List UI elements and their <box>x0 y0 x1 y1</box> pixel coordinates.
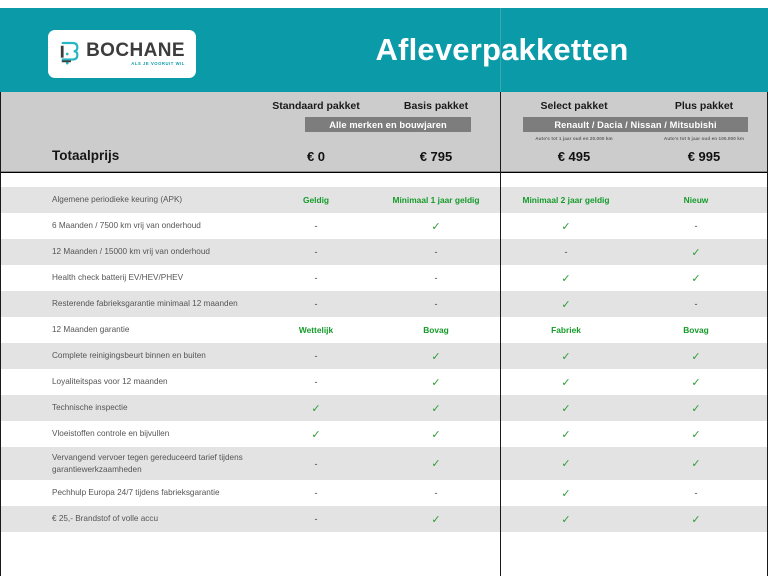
dash-icon: - <box>315 514 318 524</box>
price-basis: € 795 <box>372 149 500 164</box>
dash-icon: - <box>315 459 318 469</box>
check-icon: ✓ <box>311 429 320 441</box>
check-icon: ✓ <box>431 514 440 526</box>
table-row: 12 Maanden / 15000 km vrij van onderhoud… <box>0 239 768 265</box>
table-row: € 25,- Brandstof of volle accu-✓✓✓ <box>0 506 768 532</box>
feature-value-b: - <box>372 247 500 257</box>
dash-icon: - <box>315 221 318 231</box>
check-icon: ✓ <box>691 247 700 259</box>
dash-icon: - <box>695 488 698 498</box>
feature-value-d: ✓ <box>632 376 760 389</box>
feature-value-c: ✓ <box>500 376 632 389</box>
price-standaard: € 0 <box>260 149 372 164</box>
feature-value-a: - <box>260 221 372 231</box>
feature-label: Resterende fabrieksgarantie minimaal 12 … <box>0 298 260 310</box>
package-group-divider <box>500 92 501 576</box>
table-row: Technische inspectie✓✓✓✓ <box>0 395 768 421</box>
feature-value-b: ✓ <box>372 350 500 363</box>
feature-value-c: - <box>500 247 632 257</box>
check-icon: ✓ <box>431 429 440 441</box>
feature-value-c: ✓ <box>500 487 632 500</box>
feature-label: Algemene periodieke keuring (APK) <box>0 194 260 206</box>
bochane-logo[interactable]: BOCHANE ALS JE VOORUIT WIL <box>48 30 196 78</box>
check-icon: ✓ <box>561 221 570 233</box>
dash-icon: - <box>695 299 698 309</box>
feature-value-a: - <box>260 459 372 469</box>
package-note-select: Auto's tot 1 jaar oud en 20.000 km <box>508 136 640 141</box>
table-left-edge <box>0 92 1 576</box>
check-icon: ✓ <box>561 403 570 415</box>
check-icon: ✓ <box>561 429 570 441</box>
feature-value-a: Geldig <box>260 195 372 205</box>
dash-icon: - <box>435 273 438 283</box>
feature-label: Pechhulp Europa 24/7 tijdens fabrieksgar… <box>0 487 260 499</box>
check-icon: ✓ <box>311 403 320 415</box>
feature-value-d: ✓ <box>632 513 760 526</box>
check-icon: ✓ <box>431 458 440 470</box>
feature-value-b: Minimaal 1 jaar geldig <box>372 195 500 205</box>
table-row: Resterende fabrieksgarantie minimaal 12 … <box>0 291 768 317</box>
feature-value-b: ✓ <box>372 513 500 526</box>
dash-icon: - <box>315 299 318 309</box>
package-group-divider-header <box>500 8 501 92</box>
feature-value-d: - <box>632 488 760 498</box>
table-row: Complete reinigingsbeurt binnen en buite… <box>0 343 768 369</box>
table-row: Pechhulp Europa 24/7 tijdens fabrieksgar… <box>0 480 768 506</box>
feature-value-d: ✓ <box>632 402 760 415</box>
table-row: Algemene periodieke keuring (APK)GeldigM… <box>0 187 768 213</box>
feature-value-c: ✓ <box>500 402 632 415</box>
feature-label: 6 Maanden / 7500 km vrij van onderhoud <box>0 220 260 232</box>
dash-icon: - <box>565 247 568 257</box>
package-name-select: Select pakket <box>508 100 640 112</box>
table-row: Health check batterij EV/HEV/PHEV--✓✓ <box>0 265 768 291</box>
package-name-basis: Basis pakket <box>372 100 500 112</box>
feature-label: Vloeistoffen controle en bijvullen <box>0 428 260 440</box>
total-price-label: Totaalprijs <box>52 148 119 163</box>
feature-value-b: ✓ <box>372 428 500 441</box>
feature-label: 12 Maanden / 15000 km vrij van onderhoud <box>0 246 260 258</box>
feature-value-c: ✓ <box>500 272 632 285</box>
brand-bar-left: Alle merken en bouwjaren <box>305 117 471 132</box>
table-bottom-spacer <box>0 532 768 572</box>
table-top-spacer <box>0 173 768 187</box>
feature-value-a: - <box>260 351 372 361</box>
feature-value-d: Bovag <box>632 325 760 335</box>
dash-icon: - <box>315 273 318 283</box>
check-icon: ✓ <box>561 299 570 311</box>
feature-value-c: ✓ <box>500 428 632 441</box>
feature-value-b: - <box>372 273 500 283</box>
check-icon: ✓ <box>691 514 700 526</box>
table-row: Loyaliteitspas voor 12 maanden-✓✓✓ <box>0 369 768 395</box>
dash-icon: - <box>315 377 318 387</box>
dash-icon: - <box>435 488 438 498</box>
feature-label: 12 Maanden garantie <box>0 324 260 336</box>
check-icon: ✓ <box>431 351 440 363</box>
price-plus: € 995 <box>640 149 768 164</box>
brand-bar-right: Renault / Dacia / Nissan / Mitsubishi <box>523 117 748 132</box>
feature-value-a: ✓ <box>260 402 372 415</box>
feature-value-b: ✓ <box>372 457 500 470</box>
feature-value-b: Bovag <box>372 325 500 335</box>
table-row: Vervangend vervoer tegen gereduceerd tar… <box>0 447 768 480</box>
check-icon: ✓ <box>561 458 570 470</box>
feature-value-a: - <box>260 514 372 524</box>
feature-label: Health check batterij EV/HEV/PHEV <box>0 272 260 284</box>
dash-icon: - <box>315 351 318 361</box>
check-icon: ✓ <box>431 221 440 233</box>
package-name-standaard: Standaard pakket <box>260 100 372 112</box>
feature-label: Vervangend vervoer tegen gereduceerd tar… <box>0 452 260 476</box>
table-row: 12 Maanden garantieWettelijkBovagFabriek… <box>0 317 768 343</box>
check-icon: ✓ <box>561 351 570 363</box>
check-icon: ✓ <box>561 514 570 526</box>
dash-icon: - <box>435 247 438 257</box>
price-select: € 495 <box>508 149 640 164</box>
feature-value-b: - <box>372 488 500 498</box>
feature-value-d: - <box>632 221 760 231</box>
feature-value-c: ✓ <box>500 513 632 526</box>
feature-value-c: Fabriek <box>500 325 632 335</box>
feature-value-d: ✓ <box>632 272 760 285</box>
check-icon: ✓ <box>691 377 700 389</box>
feature-value-d: ✓ <box>632 457 760 470</box>
feature-label: Loyaliteitspas voor 12 maanden <box>0 376 260 388</box>
dash-icon: - <box>315 247 318 257</box>
feature-value-d: ✓ <box>632 428 760 441</box>
feature-value-a: ✓ <box>260 428 372 441</box>
dash-icon: - <box>695 221 698 231</box>
check-icon: ✓ <box>691 351 700 363</box>
bochane-mark-icon <box>59 41 81 67</box>
check-icon: ✓ <box>561 377 570 389</box>
dash-icon: - <box>435 299 438 309</box>
table-row: 6 Maanden / 7500 km vrij van onderhoud-✓… <box>0 213 768 239</box>
feature-value-b: ✓ <box>372 376 500 389</box>
table-row: Vloeistoffen controle en bijvullen✓✓✓✓ <box>0 421 768 447</box>
page-header: BOCHANE ALS JE VOORUIT WIL Afleverpakket… <box>0 8 768 92</box>
feature-value-c: ✓ <box>500 220 632 233</box>
page-title: Afleverpakketten <box>236 8 768 92</box>
feature-value-a: Wettelijk <box>260 325 372 335</box>
feature-value-b: ✓ <box>372 402 500 415</box>
logo-tagline: ALS JE VOORUIT WIL <box>131 62 185 66</box>
afleverpakketten-page: BOCHANE ALS JE VOORUIT WIL Afleverpakket… <box>0 0 768 576</box>
package-name-plus: Plus pakket <box>640 100 768 112</box>
feature-value-c: ✓ <box>500 350 632 363</box>
feature-value-a: - <box>260 488 372 498</box>
feature-value-b: - <box>372 299 500 309</box>
feature-value-a: - <box>260 299 372 309</box>
feature-value-c: ✓ <box>500 298 632 311</box>
feature-value-d: ✓ <box>632 350 760 363</box>
feature-value-b: ✓ <box>372 220 500 233</box>
feature-label: € 25,- Brandstof of volle accu <box>0 513 260 525</box>
feature-value-d: - <box>632 299 760 309</box>
feature-comparison-table: Algemene periodieke keuring (APK)GeldigM… <box>0 172 768 568</box>
check-icon: ✓ <box>691 273 700 285</box>
check-icon: ✓ <box>561 488 570 500</box>
check-icon: ✓ <box>691 429 700 441</box>
feature-value-d: Nieuw <box>632 195 760 205</box>
logo-wordmark: BOCHANE <box>86 41 185 60</box>
check-icon: ✓ <box>431 377 440 389</box>
check-icon: ✓ <box>431 403 440 415</box>
feature-label: Complete reinigingsbeurt binnen en buite… <box>0 350 260 362</box>
dash-icon: - <box>315 488 318 498</box>
feature-value-a: - <box>260 247 372 257</box>
feature-value-d: ✓ <box>632 246 760 259</box>
check-icon: ✓ <box>691 403 700 415</box>
feature-value-c: ✓ <box>500 457 632 470</box>
check-icon: ✓ <box>561 273 570 285</box>
feature-value-a: - <box>260 377 372 387</box>
feature-value-a: - <box>260 273 372 283</box>
feature-value-c: Minimaal 2 jaar geldig <box>500 195 632 205</box>
package-note-plus: Auto's tot 5 jaar oud en 100.000 km <box>640 136 768 141</box>
feature-label: Technische inspectie <box>0 402 260 414</box>
check-icon: ✓ <box>691 458 700 470</box>
